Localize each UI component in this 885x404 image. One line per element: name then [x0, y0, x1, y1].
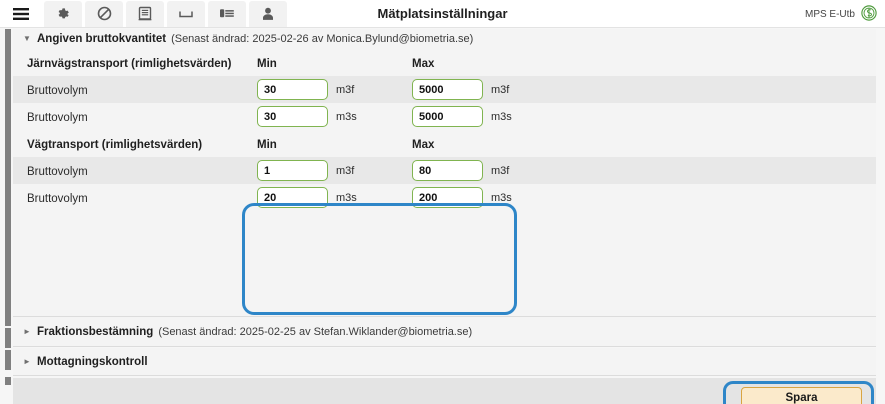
table-group-header-row: Järnvägstransport (rimlighetsvärden) Min…	[13, 49, 876, 76]
hamburger-menu-icon	[12, 7, 30, 21]
section-angiven-bruttokvantitet: ▼ Angiven bruttokvantitet (Senast ändrad…	[13, 29, 876, 317]
row-label: Bruttovolym	[27, 193, 88, 205]
table-group-header-row: Vägtransport (rimlighetsvärden) Min Max	[13, 130, 876, 157]
chevron-right-icon[interactable]: ►	[23, 358, 37, 366]
section-mottagningskontroll[interactable]: ► Mottagningskontroll	[13, 348, 876, 376]
row-label: Bruttovolym	[27, 112, 88, 124]
user-name-label: MPS E-Utb	[805, 9, 855, 20]
blocked-tab-button[interactable]	[85, 1, 123, 27]
max-input[interactable]	[412, 79, 483, 100]
bar-tab-button[interactable]	[167, 1, 205, 27]
settings-tab-button[interactable]	[44, 1, 82, 27]
max-unit-label: m3f	[491, 165, 509, 177]
vertical-scrollbar-segment-4[interactable]	[5, 377, 11, 385]
footer-bar: Spara	[13, 378, 876, 404]
section-title: Angiven bruttokvantitet	[37, 33, 166, 45]
table-row: Bruttovolym m3f m3f	[13, 157, 876, 184]
spacer-cell	[572, 130, 876, 157]
hamburger-menu-button[interactable]	[4, 1, 38, 27]
section-title: Mottagningskontroll	[37, 356, 148, 368]
max-input[interactable]	[412, 106, 483, 127]
section-header-angiven-bruttokvantitet[interactable]: ▼ Angiven bruttokvantitet (Senast ändrad…	[13, 29, 876, 49]
transport-tab-button[interactable]	[208, 1, 246, 27]
document-list-icon	[138, 6, 152, 21]
column-header-min: Min	[257, 58, 277, 70]
settings-table: Järnvägstransport (rimlighetsvärden) Min…	[13, 49, 876, 211]
spacer-cell	[572, 103, 876, 130]
min-input[interactable]	[257, 79, 328, 100]
spacer-cell	[572, 184, 876, 211]
min-unit-label: m3s	[336, 192, 357, 204]
section-meta: (Senast ändrad: 2025-02-26 av Monica.Byl…	[171, 33, 473, 45]
group-name-label: Järnvägstransport (rimlighetsvärden)	[27, 58, 232, 70]
spacer-cell	[572, 76, 876, 103]
max-input[interactable]	[412, 160, 483, 181]
user-tab-button[interactable]	[249, 1, 287, 27]
user-area: MPS E-Utb	[805, 0, 877, 28]
person-icon	[262, 7, 274, 21]
gear-icon	[56, 7, 70, 21]
max-unit-label: m3f	[491, 84, 509, 96]
table-row: Bruttovolym m3f m3f	[13, 76, 876, 103]
min-unit-label: m3f	[336, 84, 354, 96]
vertical-scrollbar-segment-3[interactable]	[5, 350, 11, 370]
content-area: ▼ Angiven bruttokvantitet (Senast ändrad…	[0, 28, 885, 404]
column-header-min: Min	[257, 139, 277, 151]
section-fraktionsbestamning[interactable]: ► Fraktionsbestämning (Senast ändrad: 20…	[13, 317, 876, 347]
max-unit-label: m3s	[491, 192, 512, 204]
vertical-scrollbar-segment-2[interactable]	[5, 328, 11, 348]
top-toolbar: Mätplatsinställningar MPS E-Utb	[0, 0, 885, 28]
spacer-cell	[572, 157, 876, 184]
max-unit-label: m3s	[491, 111, 512, 123]
records-tab-button[interactable]	[126, 1, 164, 27]
save-button[interactable]: Spara	[741, 387, 862, 404]
chevron-right-icon[interactable]: ►	[23, 328, 37, 336]
min-input[interactable]	[257, 160, 328, 181]
group-name-label: Vägtransport (rimlighetsvärden)	[27, 139, 202, 151]
bar-icon	[178, 8, 194, 20]
vertical-scrollbar[interactable]	[5, 29, 11, 326]
table-row: Bruttovolym m3s m3s	[13, 184, 876, 211]
spacer-cell	[572, 49, 876, 76]
row-label: Bruttovolym	[27, 166, 88, 178]
section-meta: (Senast ändrad: 2025-02-25 av Stefan.Wik…	[158, 326, 472, 338]
column-header-max: Max	[412, 139, 434, 151]
app-window: Mätplatsinställningar MPS E-Utb ▼ Angive…	[0, 0, 885, 404]
chevron-down-icon[interactable]: ▼	[23, 35, 37, 43]
max-input[interactable]	[412, 187, 483, 208]
no-entry-icon	[97, 6, 112, 21]
row-label: Bruttovolym	[27, 85, 88, 97]
min-input[interactable]	[257, 187, 328, 208]
min-unit-label: m3f	[336, 165, 354, 177]
section-title: Fraktionsbestämning	[37, 326, 153, 338]
biometria-circle-logo-icon[interactable]	[861, 5, 877, 24]
min-input[interactable]	[257, 106, 328, 127]
min-unit-label: m3s	[336, 111, 357, 123]
truck-icon	[219, 7, 235, 20]
table-row: Bruttovolym m3s m3s	[13, 103, 876, 130]
column-header-max: Max	[412, 58, 434, 70]
